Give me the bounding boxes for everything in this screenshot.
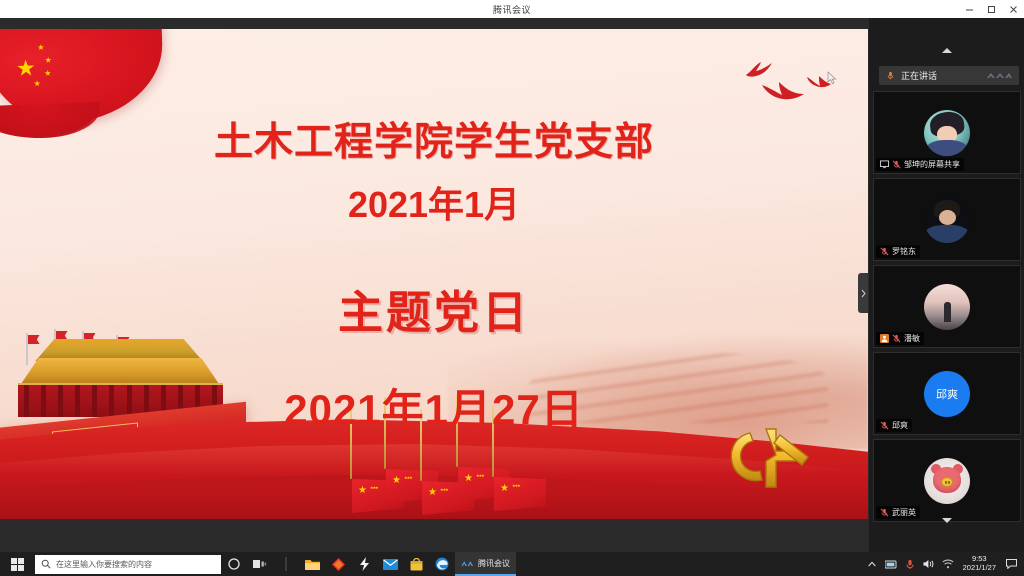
microphone-muted-icon bbox=[880, 421, 889, 430]
mail-button[interactable] bbox=[377, 552, 403, 576]
avatar bbox=[924, 197, 970, 243]
screen-root: 腾讯会议 ★ ★ ★ ★ ★ bbox=[0, 0, 1024, 576]
tray-mic-icon-button[interactable] bbox=[903, 552, 917, 576]
slide-subtitle: 2021年1月 bbox=[0, 186, 868, 224]
app-diamond-icon bbox=[332, 558, 345, 571]
tray-wifi-icon-button[interactable] bbox=[941, 552, 955, 576]
windows-taskbar: 在这里输入你要搜索的内容 bbox=[0, 552, 1024, 576]
search-input[interactable]: 在这里输入你要搜索的内容 bbox=[35, 555, 221, 574]
microphone-muted-icon bbox=[892, 160, 901, 169]
cortana-button[interactable] bbox=[221, 552, 247, 576]
chevron-up-icon bbox=[941, 47, 953, 54]
participant-name-bar: 邱爽 bbox=[876, 419, 912, 432]
window-titlebar: 腾讯会议 bbox=[0, 0, 1024, 18]
tray-overflow-button[interactable] bbox=[865, 552, 879, 576]
edge-icon bbox=[435, 557, 449, 571]
participant-tile[interactable]: 邱爽 邱爽 bbox=[873, 352, 1021, 435]
wifi-icon bbox=[942, 559, 954, 569]
participant-name: 邱爽 bbox=[892, 420, 908, 431]
participant-name: 邹坤的屏幕共享 bbox=[904, 159, 960, 170]
participant-name-bar: 罗铭东 bbox=[876, 245, 920, 258]
start-button[interactable] bbox=[0, 552, 34, 576]
chevron-up-icon bbox=[868, 561, 876, 567]
participant-name: 潘敏 bbox=[904, 333, 920, 344]
taskbar-clock[interactable]: 9:53 2021/1/27 bbox=[960, 555, 999, 572]
tray-volume-icon-button[interactable] bbox=[922, 552, 936, 576]
task-view-icon bbox=[253, 558, 267, 570]
screen-share-icon bbox=[880, 160, 889, 169]
speaking-indicator: 正在讲话 bbox=[879, 66, 1019, 85]
speaking-label: 正在讲话 bbox=[901, 69, 937, 82]
participant-name-bar: 邹坤的屏幕共享 bbox=[876, 158, 964, 171]
volume-icon bbox=[923, 559, 935, 569]
scroll-up-button[interactable] bbox=[869, 40, 1024, 60]
slide-main-heading: 主题党日 bbox=[0, 276, 868, 341]
slide-text-layer: 土木工程学院学生党支部 2021年1月 主题党日 2021年1月27日 bbox=[0, 29, 868, 519]
presentation-slide: ★ ★ ★ ★ ★ bbox=[0, 29, 868, 519]
maximize-button[interactable] bbox=[980, 0, 1002, 18]
scroll-down-button[interactable] bbox=[869, 510, 1024, 530]
network-icon bbox=[885, 560, 897, 569]
app-diamond-button[interactable] bbox=[325, 552, 351, 576]
cortana-icon bbox=[228, 558, 240, 570]
participant-tile[interactable]: 罗铭东 bbox=[873, 178, 1021, 261]
slide-date: 2021年1月27日 bbox=[0, 376, 868, 437]
file-explorer-button[interactable] bbox=[299, 552, 325, 576]
taskbar-app-tencent-meeting[interactable]: 腾讯会议 bbox=[455, 552, 516, 576]
minimize-button[interactable] bbox=[958, 0, 980, 18]
window-title: 腾讯会议 bbox=[493, 3, 531, 16]
mail-icon bbox=[383, 559, 398, 570]
search-icon bbox=[41, 559, 51, 569]
avatar bbox=[924, 110, 970, 156]
microphone-muted-icon bbox=[880, 247, 889, 256]
participant-tile[interactable]: 潘敏 bbox=[873, 265, 1021, 348]
tencent-meeting-logo-icon bbox=[986, 71, 1012, 81]
chevron-down-icon bbox=[941, 517, 953, 524]
system-tray: 9:53 2021/1/27 bbox=[865, 552, 1024, 576]
tencent-meeting-icon bbox=[461, 558, 474, 569]
avatar bbox=[924, 284, 970, 330]
lightning-app-button[interactable] bbox=[351, 552, 377, 576]
mic-icon bbox=[905, 559, 915, 570]
host-badge-icon bbox=[880, 334, 889, 343]
window-controls bbox=[958, 0, 1024, 18]
slide-title: 土木工程学院学生党支部 bbox=[0, 122, 868, 164]
store-icon bbox=[410, 558, 423, 571]
task-view-button[interactable] bbox=[247, 552, 273, 576]
close-button[interactable] bbox=[1002, 0, 1024, 18]
participant-name: 罗铭东 bbox=[892, 246, 916, 257]
participant-tile[interactable]: 邹坤的屏幕共享 bbox=[873, 91, 1021, 174]
file-explorer-icon bbox=[305, 558, 320, 571]
participants-panel: 正在讲话 bbox=[869, 18, 1024, 552]
taskbar-app-label: 腾讯会议 bbox=[478, 558, 510, 569]
lightning-icon bbox=[359, 557, 370, 571]
avatar: 邱爽 bbox=[924, 371, 970, 417]
start-icon bbox=[11, 558, 24, 571]
meeting-window-body: ★ ★ ★ ★ ★ bbox=[0, 18, 1024, 552]
microphone-icon bbox=[886, 71, 895, 80]
panel-collapse-handle[interactable] bbox=[858, 273, 868, 313]
shared-screen-area[interactable]: ★ ★ ★ ★ ★ bbox=[0, 18, 868, 530]
clock-date: 2021/1/27 bbox=[963, 564, 996, 573]
avatar bbox=[924, 458, 970, 504]
edge-button[interactable] bbox=[429, 552, 455, 576]
tray-network-icon-button[interactable] bbox=[884, 552, 898, 576]
action-center-icon bbox=[1006, 559, 1017, 569]
store-button[interactable] bbox=[403, 552, 429, 576]
action-center-button[interactable] bbox=[1004, 552, 1018, 576]
separator bbox=[273, 552, 299, 576]
avatar-initials: 邱爽 bbox=[924, 371, 970, 417]
search-placeholder: 在这里输入你要搜索的内容 bbox=[56, 559, 152, 570]
participant-name-bar: 潘敏 bbox=[876, 332, 924, 345]
microphone-muted-icon bbox=[892, 334, 901, 343]
